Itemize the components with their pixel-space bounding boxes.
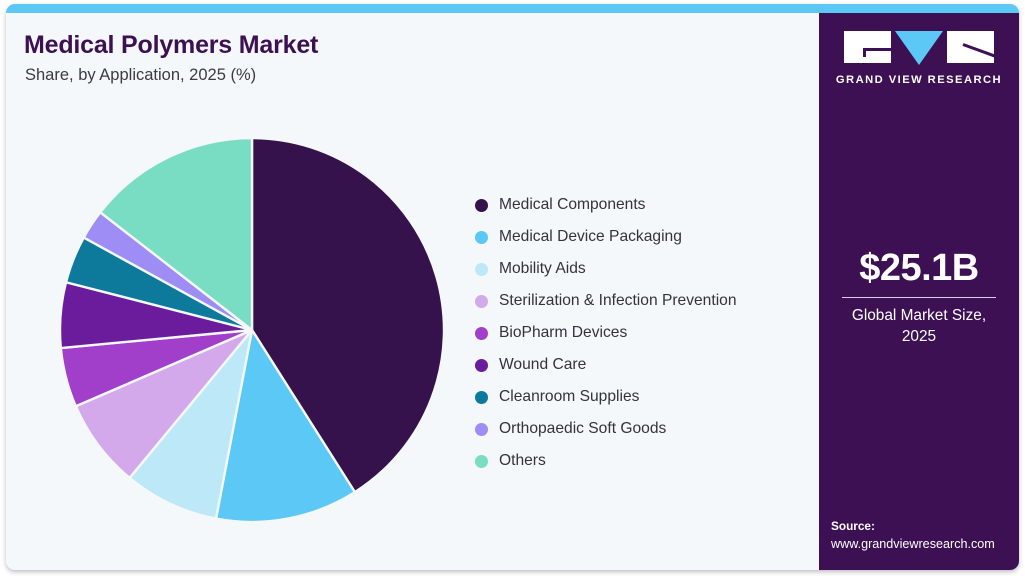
legend-label: Orthopaedic Soft Goods (499, 420, 666, 438)
page-subtitle: Share, by Application, 2025 (%) (25, 66, 256, 85)
logo-r-block-icon (947, 31, 994, 63)
legend-swatch-icon (475, 199, 488, 212)
legend-label: Sterilization & Infection Prevention (499, 292, 737, 310)
market-size-caption: Global Market Size, 2025 (819, 306, 1019, 348)
logo-wordmark: GRAND VIEW RESEARCH (819, 74, 1019, 86)
legend-item[interactable]: BioPharm Devices (475, 317, 805, 349)
logo-marks (819, 31, 1019, 65)
top-accent-bar (6, 4, 1019, 13)
pie-chart (53, 125, 453, 525)
legend-swatch-icon (475, 455, 488, 468)
market-size-caption-line2: 2025 (902, 328, 936, 345)
chart-legend: Medical ComponentsMedical Device Packagi… (475, 189, 805, 477)
legend-label: Medical Device Packaging (499, 228, 682, 246)
legend-label: BioPharm Devices (499, 324, 627, 342)
stat-divider (842, 297, 996, 298)
legend-item[interactable]: Cleanroom Supplies (475, 381, 805, 413)
legend-swatch-icon (475, 327, 488, 340)
brand-panel: GRAND VIEW RESEARCH $25.1B Global Market… (819, 13, 1019, 570)
legend-swatch-icon (475, 231, 488, 244)
market-size-value: $25.1B (819, 249, 1019, 287)
legend-swatch-icon (475, 423, 488, 436)
legend-swatch-icon (475, 391, 488, 404)
legend-label: Medical Components (499, 196, 645, 214)
legend-swatch-icon (475, 295, 488, 308)
legend-label: Wound Care (499, 356, 586, 374)
legend-item[interactable]: Medical Device Packaging (475, 221, 805, 253)
pie-chart-svg (53, 125, 453, 525)
grand-view-research-logo: GRAND VIEW RESEARCH (819, 31, 1019, 86)
legend-swatch-icon (475, 359, 488, 372)
chart-pane: Medical Polymers Market Share, by Applic… (6, 13, 819, 570)
source-label: Source: (831, 518, 1019, 535)
legend-label: Cleanroom Supplies (499, 388, 639, 406)
card: Medical Polymers Market Share, by Applic… (6, 4, 1019, 570)
legend-item[interactable]: Orthopaedic Soft Goods (475, 413, 805, 445)
page-title: Medical Polymers Market (24, 31, 318, 60)
legend-swatch-icon (475, 263, 488, 276)
legend-item[interactable]: Wound Care (475, 349, 805, 381)
legend-label: Others (499, 452, 546, 470)
legend-label: Mobility Aids (499, 260, 586, 278)
legend-item[interactable]: Medical Components (475, 189, 805, 221)
legend-item[interactable]: Others (475, 445, 805, 477)
legend-item[interactable]: Mobility Aids (475, 253, 805, 285)
logo-v-triangle-icon (895, 31, 943, 65)
source-url[interactable]: www.grandviewresearch.com (831, 535, 1019, 553)
source-block: Source: www.grandviewresearch.com (831, 518, 1019, 553)
market-size-stat: $25.1B Global Market Size, 2025 (819, 249, 1019, 348)
chart-infographic: Medical Polymers Market Share, by Applic… (0, 0, 1025, 576)
legend-item[interactable]: Sterilization & Infection Prevention (475, 285, 805, 317)
market-size-caption-line1: Global Market Size, (852, 307, 986, 324)
logo-g-block-icon (844, 31, 891, 63)
